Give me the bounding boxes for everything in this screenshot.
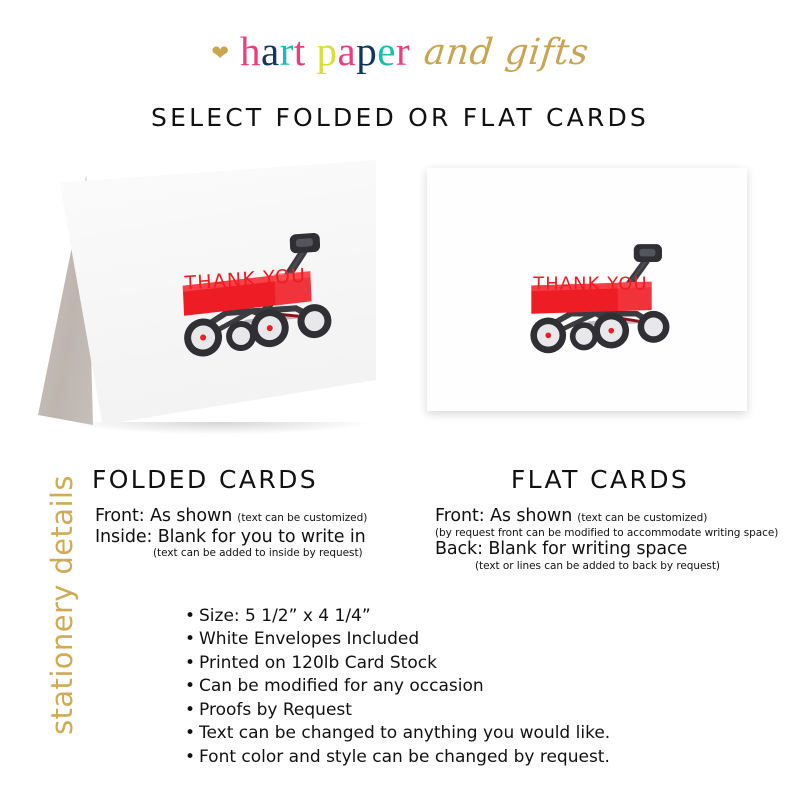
flat-back-line: Back: Blank for writing space (435, 539, 765, 560)
flat-card-mockup: THANK YOU (427, 168, 747, 411)
svg-text:THANK YOU: THANK YOU (532, 273, 648, 294)
bullet-marker: • (185, 699, 199, 722)
list-item: •White Envelopes Included (185, 628, 655, 651)
flat-back-subnote: (text or lines can be added to back by r… (435, 560, 765, 572)
list-item-label: Text can be changed to anything you woul… (199, 723, 610, 743)
folded-inside-line: Inside: Blank for you to write in (95, 527, 415, 548)
bullet-marker: • (185, 722, 199, 745)
list-item: •Printed on 120lb Card Stock (185, 652, 655, 675)
stationery-details-vertical-label: stationery details (45, 425, 79, 785)
bullet-marker: • (185, 652, 199, 675)
flat-front-line: Front: As shown (text can be customized) (435, 506, 765, 527)
list-item: •Font color and style can be changed by … (185, 746, 655, 769)
flat-card-wagon-art: THANK YOU (505, 223, 693, 365)
flat-back-main: Back: Blank for writing space (435, 539, 687, 559)
folded-front-note: (text can be customized) (237, 512, 367, 524)
list-item-label: Printed on 120lb Card Stock (199, 653, 437, 673)
bullet-marker: • (185, 746, 199, 769)
flat-cards-heading: FLAT CARDS (455, 465, 745, 494)
folded-card-shadow (70, 422, 370, 434)
list-item-label: Proofs by Request (199, 700, 352, 720)
flat-front-note: (text can be customized) (577, 512, 707, 524)
flat-front-main: Front: As shown (435, 506, 572, 526)
list-item-label: Font color and style can be changed by r… (199, 747, 610, 767)
bullet-marker: • (185, 675, 199, 698)
folded-inside-main: Inside: Blank for you to write in (95, 527, 366, 547)
poster-canvas: ❤ hart paper and gifts SELECT FOLDED OR … (0, 0, 800, 800)
list-item: •Can be modified for any occasion (185, 675, 655, 698)
list-item-label: Can be modified for any occasion (199, 676, 484, 696)
folded-card-wagon-art: THANK YOU (152, 208, 358, 371)
brand-script-tagline: and gifts (422, 35, 590, 71)
folded-cards-heading: FOLDED CARDS (60, 465, 350, 494)
folded-front-main: Front: As shown (95, 506, 232, 526)
brand-wordmark: hart paper (240, 31, 410, 72)
flat-front-subnote: (by request front can be modified to acc… (435, 527, 765, 539)
folded-card-description: Front: As shown (text can be customized)… (95, 506, 415, 560)
list-item: •Text can be changed to anything you wou… (185, 722, 655, 745)
folded-card-mockup: THANK YOU (30, 150, 380, 460)
heart-icon: ❤ (211, 43, 229, 64)
list-item-label: White Envelopes Included (199, 629, 419, 649)
list-item: •Proofs by Request (185, 699, 655, 722)
bullet-marker: • (185, 605, 199, 628)
folded-inside-note: (text can be added to inside by request) (95, 547, 415, 559)
bullet-marker: • (185, 628, 199, 651)
details-bullet-list: •Size: 5 1/2” x 4 1/4” •White Envelopes … (185, 605, 655, 769)
folded-front-line: Front: As shown (text can be customized) (95, 506, 415, 527)
page-title: SELECT FOLDED OR FLAT CARDS (0, 103, 800, 132)
list-item: •Size: 5 1/2” x 4 1/4” (185, 605, 655, 628)
flat-card-description: Front: As shown (text can be customized)… (435, 506, 765, 572)
list-item-label: Size: 5 1/2” x 4 1/4” (199, 606, 371, 626)
brand-logo: ❤ hart paper and gifts (0, 18, 800, 84)
